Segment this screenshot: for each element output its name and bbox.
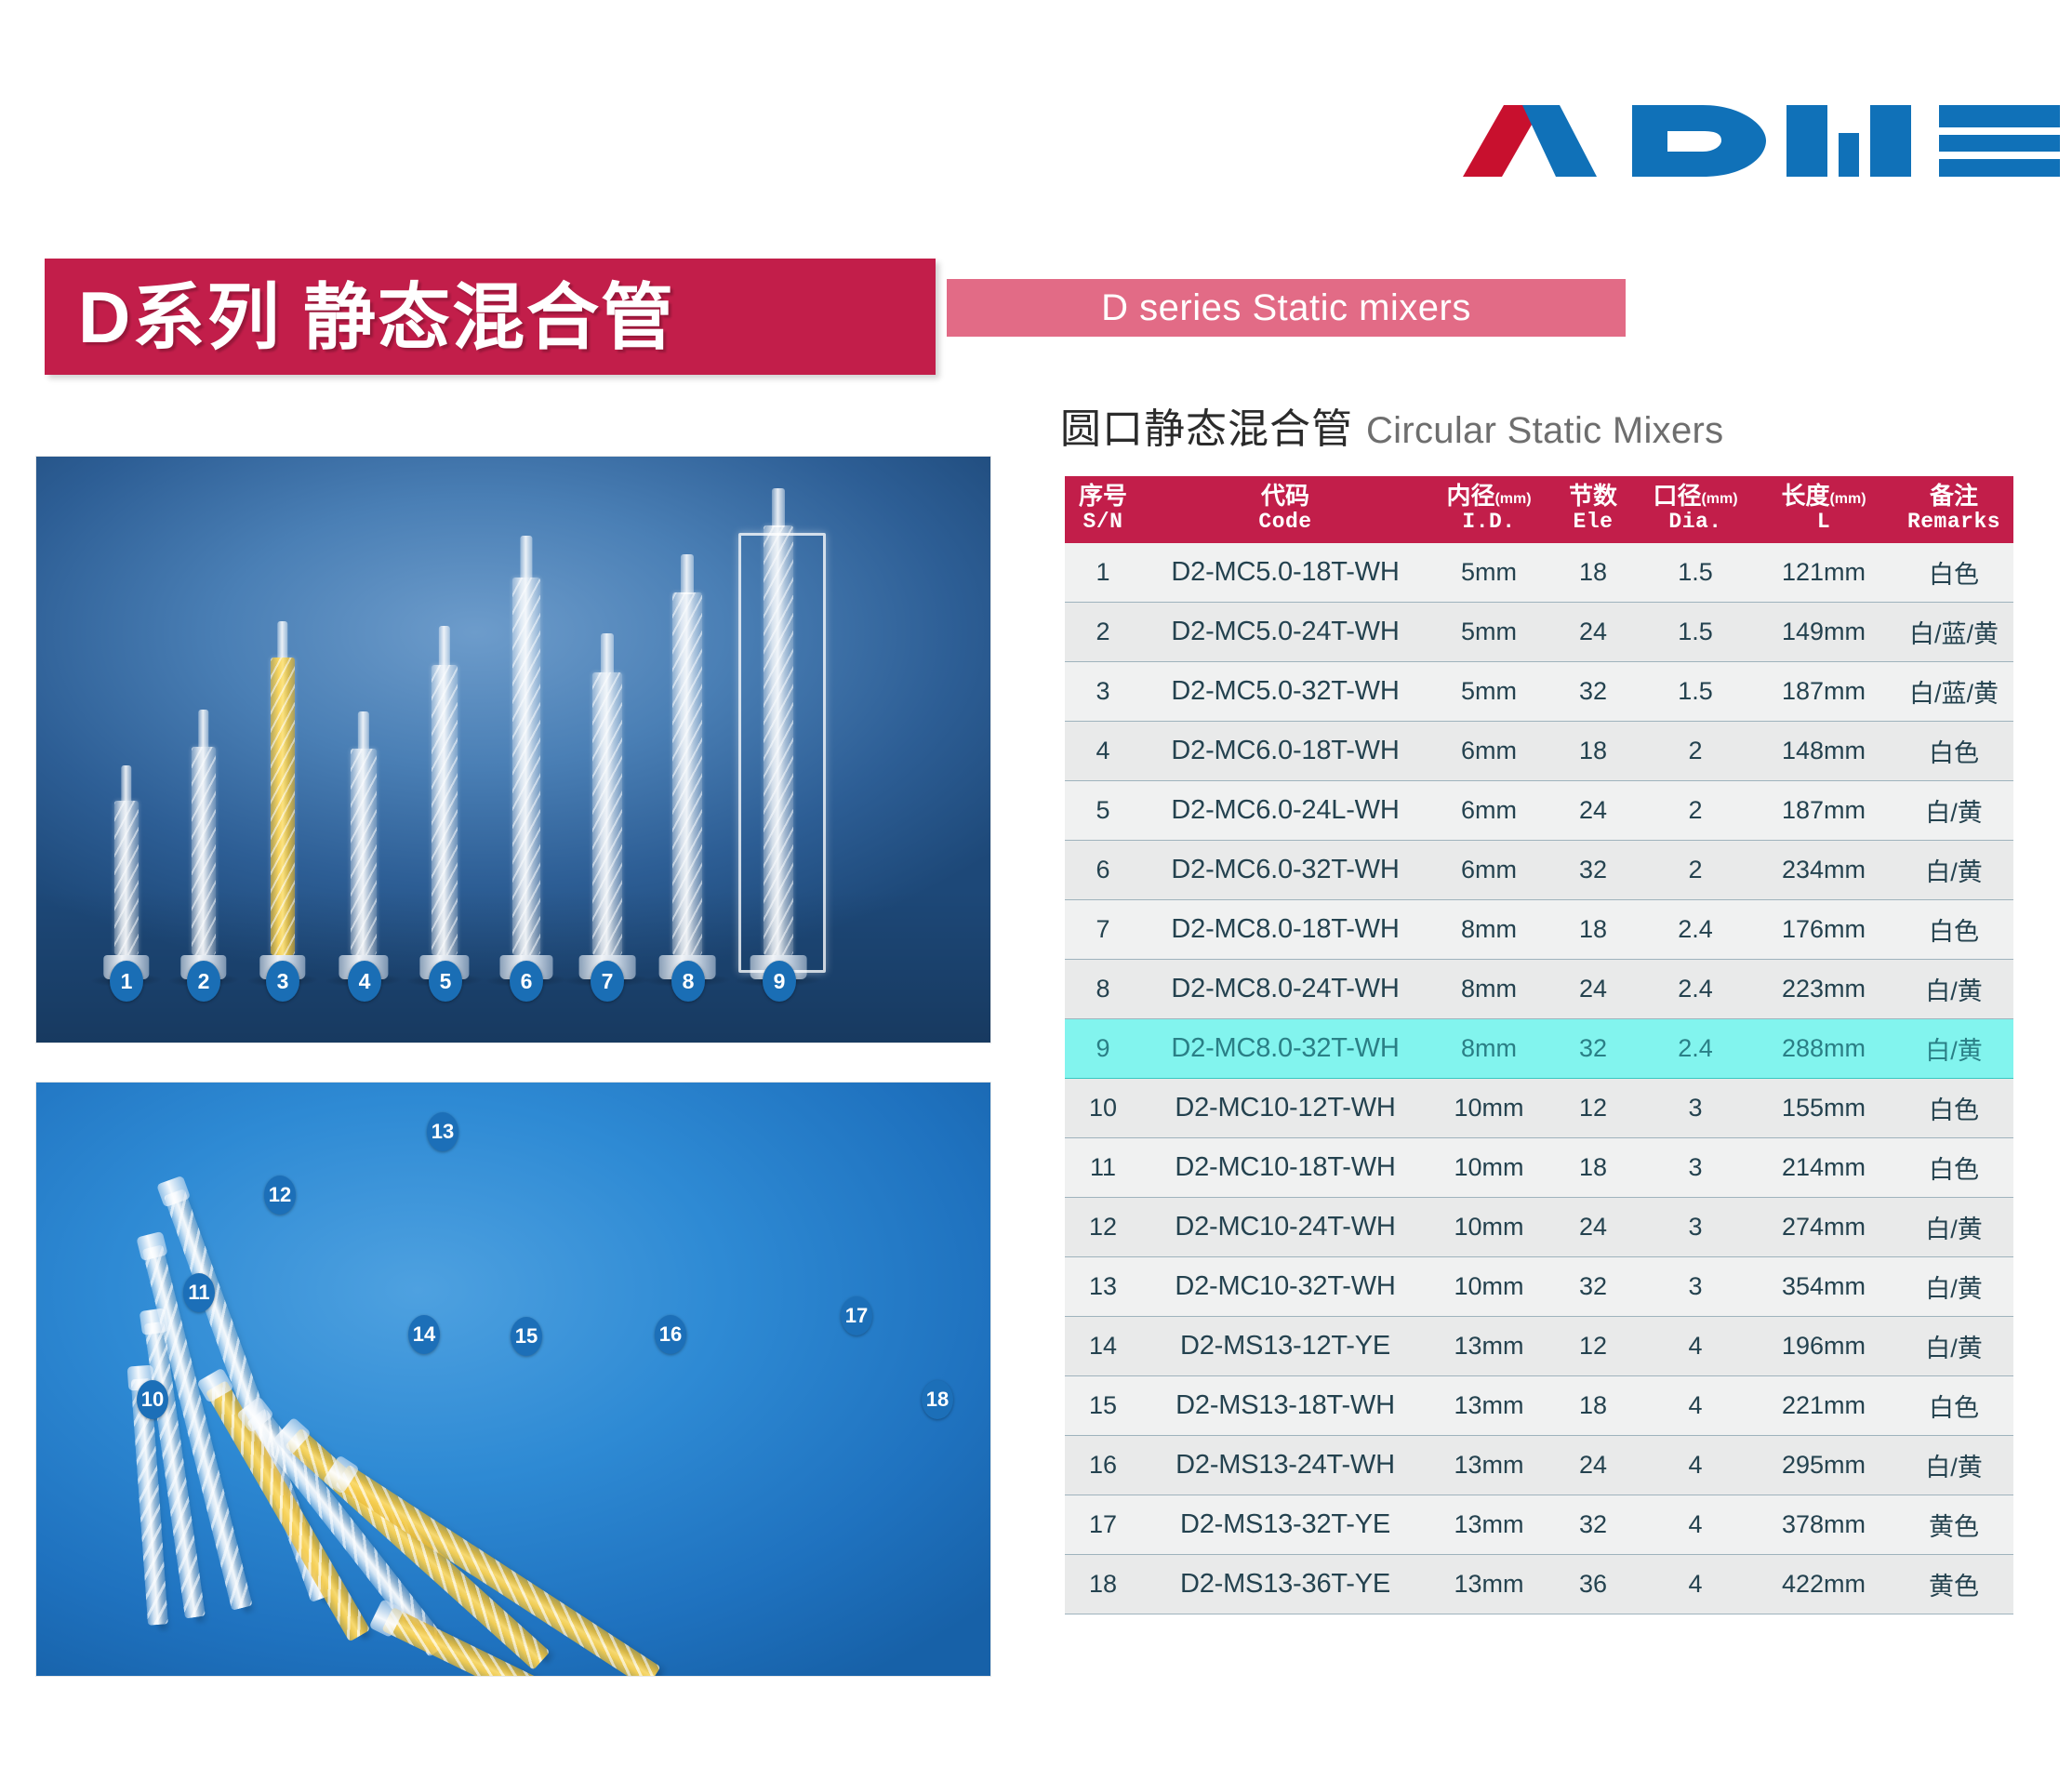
mixer-tip [520, 536, 532, 578]
cell-sn: 16 [1065, 1436, 1141, 1495]
specification-table: 序号 S/N 代码 Code 内径(mm) I.D. 节数 Ele 口径(mm)… [1065, 476, 2013, 1614]
cell-ele: 24 [1548, 603, 1638, 662]
cell-length: 214mm [1753, 1138, 1894, 1198]
photo-badge-14: 14 [408, 1315, 440, 1354]
table-row[interactable]: 7D2-MC8.0-18T-WH8mm182.4176mm白色 [1065, 900, 2013, 960]
column-header-ele: 节数 Ele [1548, 476, 1638, 543]
cell-code: D2-MC6.0-18T-WH [1141, 722, 1429, 781]
mixer-body [672, 592, 702, 955]
cell-ele: 24 [1548, 1198, 1638, 1257]
photo-badge-2: 2 [187, 961, 220, 1002]
cell-code: D2-MC8.0-18T-WH [1141, 900, 1429, 960]
mixer-item-7 [592, 633, 622, 979]
mixer-body [512, 578, 540, 955]
cell-id: 6mm [1429, 841, 1548, 900]
page-title-en: D series Static mixers [1101, 287, 1471, 329]
table-row[interactable]: 6D2-MC6.0-32T-WH6mm322234mm白/黄 [1065, 841, 2013, 900]
column-header-remarks-en: Remarks [1896, 510, 2012, 535]
photo-badge-12: 12 [264, 1176, 296, 1215]
cell-remarks: 白色 [1894, 543, 2013, 603]
mixer-tip [358, 711, 369, 749]
cell-dia: 2.4 [1638, 960, 1753, 1019]
photo-badge-18: 18 [922, 1380, 953, 1419]
column-header-dia-en: Dia. [1640, 510, 1751, 535]
photo-badge-7: 7 [591, 961, 624, 1002]
column-header-sn-en: S/N [1067, 510, 1139, 535]
table-row[interactable]: 8D2-MC8.0-24T-WH8mm242.4223mm白/黄 [1065, 960, 2013, 1019]
cell-code: D2-MC6.0-24L-WH [1141, 781, 1429, 841]
column-header-sn-cn: 序号 [1067, 483, 1139, 510]
cell-sn: 1 [1065, 543, 1141, 603]
table-row[interactable]: 3D2-MC5.0-32T-WH5mm321.5187mm白/蓝/黄 [1065, 662, 2013, 722]
cell-length: 187mm [1753, 781, 1894, 841]
cell-id: 10mm [1429, 1079, 1548, 1138]
cell-id: 8mm [1429, 900, 1548, 960]
cell-code: D2-MS13-36T-YE [1141, 1555, 1429, 1614]
cell-remarks: 白/黄 [1894, 1198, 2013, 1257]
title-banner-english: D series Static mixers [947, 279, 1626, 337]
cell-code: D2-MC10-12T-WH [1141, 1079, 1429, 1138]
cell-length: 422mm [1753, 1555, 1894, 1614]
photo-badge-1: 1 [110, 961, 143, 1002]
cell-remarks: 白/蓝/黄 [1894, 603, 2013, 662]
cell-dia: 4 [1638, 1495, 1753, 1555]
cell-code: D2-MC10-24T-WH [1141, 1198, 1429, 1257]
cell-remarks: 白/蓝/黄 [1894, 662, 2013, 722]
column-header-code-cn: 代码 [1143, 483, 1428, 510]
table-row[interactable]: 10D2-MC10-12T-WH10mm123155mm白色 [1065, 1079, 2013, 1138]
column-header-length-cn: 长度(mm) [1755, 483, 1893, 510]
cell-length: 223mm [1753, 960, 1894, 1019]
photo-badge-6: 6 [510, 961, 543, 1002]
cell-ele: 32 [1548, 662, 1638, 722]
cell-length: 274mm [1753, 1198, 1894, 1257]
cell-length: 354mm [1753, 1257, 1894, 1317]
cell-id: 5mm [1429, 603, 1548, 662]
table-row[interactable]: 18D2-MS13-36T-YE13mm364422mm黄色 [1065, 1555, 2013, 1614]
column-header-id-cn: 内径(mm) [1431, 483, 1547, 510]
table-row[interactable]: 15D2-MS13-18T-WH13mm184221mm白色 [1065, 1376, 2013, 1436]
cell-remarks: 白/黄 [1894, 841, 2013, 900]
photo-badge-10: 10 [137, 1380, 168, 1419]
cell-length: 196mm [1753, 1317, 1894, 1376]
cell-remarks: 白/黄 [1894, 1257, 2013, 1317]
cell-sn: 2 [1065, 603, 1141, 662]
mixer-body [432, 665, 458, 955]
cell-code: D2-MC8.0-24T-WH [1141, 960, 1429, 1019]
cell-dia: 3 [1638, 1138, 1753, 1198]
cell-id: 13mm [1429, 1436, 1548, 1495]
mixer-item-3 [271, 621, 295, 979]
column-header-remarks-cn: 备注 [1896, 483, 2012, 510]
cell-length: 288mm [1753, 1019, 1894, 1079]
column-header-remarks: 备注 Remarks [1894, 476, 2013, 543]
photo-badge-9: 9 [763, 961, 796, 1002]
photo-badge-16: 16 [655, 1315, 686, 1354]
cell-ele: 18 [1548, 543, 1638, 603]
table-row[interactable]: 5D2-MC6.0-24L-WH6mm242187mm白/黄 [1065, 781, 2013, 841]
cell-id: 13mm [1429, 1555, 1548, 1614]
cell-sn: 14 [1065, 1317, 1141, 1376]
mixer-item-8 [672, 554, 702, 979]
cell-sn: 4 [1065, 722, 1141, 781]
cell-ele: 18 [1548, 900, 1638, 960]
cell-ele: 18 [1548, 1376, 1638, 1436]
cell-code: D2-MC6.0-32T-WH [1141, 841, 1429, 900]
cell-sn: 15 [1065, 1376, 1141, 1436]
mixer-body [271, 658, 295, 955]
column-header-code-en: Code [1143, 510, 1428, 535]
cell-id: 5mm [1429, 662, 1548, 722]
mixer-item-1 [114, 765, 139, 979]
cell-code: D2-MC8.0-32T-WH [1141, 1019, 1429, 1079]
cell-id: 13mm [1429, 1317, 1548, 1376]
adhe-logo-mark [1446, 88, 2060, 177]
cell-code: D2-MS13-32T-YE [1141, 1495, 1429, 1555]
cell-dia: 3 [1638, 1257, 1753, 1317]
table-row[interactable]: 2D2-MC5.0-24T-WH5mm241.5149mm白/蓝/黄 [1065, 603, 2013, 662]
column-header-ele-en: Ele [1550, 510, 1636, 535]
cell-ele: 12 [1548, 1317, 1638, 1376]
column-header-length-en: L [1755, 510, 1893, 535]
specification-table-body: 1D2-MC5.0-18T-WH5mm181.5121mm白色2D2-MC5.0… [1065, 543, 2013, 1614]
mixer-tip [681, 554, 694, 594]
mixer-item-5 [432, 626, 458, 979]
photo-badge-5: 5 [429, 961, 462, 1002]
cell-id: 13mm [1429, 1376, 1548, 1436]
mixer-body [351, 749, 377, 955]
photo-badge-4: 4 [348, 961, 381, 1002]
cell-ele: 32 [1548, 1019, 1638, 1079]
mixer-item-2 [192, 710, 216, 979]
column-header-id: 内径(mm) I.D. [1429, 476, 1548, 543]
cell-code: D2-MC5.0-32T-WH [1141, 662, 1429, 722]
cell-remarks: 白色 [1894, 722, 2013, 781]
section-heading: 圆口静态混合管 Circular Static Mixers [1060, 395, 1723, 455]
cell-dia: 2 [1638, 781, 1753, 841]
cell-dia: 4 [1638, 1555, 1753, 1614]
cell-remarks: 白色 [1894, 900, 2013, 960]
cell-ele: 32 [1548, 1495, 1638, 1555]
cell-dia: 3 [1638, 1198, 1753, 1257]
cell-id: 10mm [1429, 1257, 1548, 1317]
mixer-body [192, 747, 216, 955]
cell-ele: 18 [1548, 722, 1638, 781]
cell-dia: 2.4 [1638, 1019, 1753, 1079]
cell-sn: 5 [1065, 781, 1141, 841]
cell-sn: 3 [1065, 662, 1141, 722]
column-header-dia: 口径(mm) Dia. [1638, 476, 1753, 543]
cell-ele: 24 [1548, 781, 1638, 841]
cell-length: 148mm [1753, 722, 1894, 781]
cell-dia: 2.4 [1638, 900, 1753, 960]
title-banner-chinese: D系列 静态混合管 [45, 259, 936, 375]
cell-dia: 1.5 [1638, 603, 1753, 662]
table-row[interactable]: 14D2-MS13-12T-YE13mm124196mm白/黄 [1065, 1317, 2013, 1376]
photo-badge-8: 8 [671, 961, 705, 1002]
mixer-tip [121, 765, 131, 801]
photo-badge-3: 3 [266, 961, 299, 1002]
cell-sn: 8 [1065, 960, 1141, 1019]
cell-dia: 4 [1638, 1317, 1753, 1376]
cell-sn: 6 [1065, 841, 1141, 900]
cell-ele: 32 [1548, 841, 1638, 900]
cell-length: 176mm [1753, 900, 1894, 960]
cell-length: 187mm [1753, 662, 1894, 722]
table-row[interactable]: 12D2-MC10-24T-WH10mm243274mm白/黄 [1065, 1198, 2013, 1257]
photo-badge-13: 13 [427, 1112, 458, 1151]
cell-ele: 24 [1548, 1436, 1638, 1495]
cell-length: 378mm [1753, 1495, 1894, 1555]
cell-sn: 7 [1065, 900, 1141, 960]
cell-code: D2-MC10-32T-WH [1141, 1257, 1429, 1317]
cell-code: D2-MC10-18T-WH [1141, 1138, 1429, 1198]
cell-id: 10mm [1429, 1198, 1548, 1257]
cell-remarks: 白色 [1894, 1138, 2013, 1198]
cell-length: 121mm [1753, 543, 1894, 603]
table-row[interactable]: 17D2-MS13-32T-YE13mm324378mm黄色 [1065, 1495, 2013, 1555]
photo-badge-11: 11 [183, 1273, 215, 1312]
mixer-tip [198, 710, 208, 747]
column-header-length: 长度(mm) L [1753, 476, 1894, 543]
cell-id: 5mm [1429, 543, 1548, 603]
product-photo-bottom: 10 11 12 13 14 15 16 17 18 [35, 1082, 991, 1677]
column-header-sn: 序号 S/N [1065, 476, 1141, 543]
cell-sn: 9 [1065, 1019, 1141, 1079]
cell-remarks: 白色 [1894, 1079, 2013, 1138]
cell-code: D2-MC5.0-24T-WH [1141, 603, 1429, 662]
cell-ele: 32 [1548, 1257, 1638, 1317]
cell-id: 8mm [1429, 1019, 1548, 1079]
cell-sn: 18 [1065, 1555, 1141, 1614]
mixer-body [592, 672, 622, 955]
cell-sn: 13 [1065, 1257, 1141, 1317]
column-header-dia-cn: 口径(mm) [1640, 483, 1751, 510]
cell-remarks: 白色 [1894, 1376, 2013, 1436]
page-title-cn: D系列 静态混合管 [78, 281, 675, 353]
cell-sn: 11 [1065, 1138, 1141, 1198]
cell-remarks: 白/黄 [1894, 1317, 2013, 1376]
cell-dia: 1.5 [1638, 543, 1753, 603]
table-header-row: 序号 S/N 代码 Code 内径(mm) I.D. 节数 Ele 口径(mm)… [1065, 476, 2013, 543]
cell-id: 6mm [1429, 781, 1548, 841]
cell-dia: 3 [1638, 1079, 1753, 1138]
mixer-item-6 [512, 536, 540, 979]
cell-dia: 4 [1638, 1436, 1753, 1495]
mixer-item-4 [351, 711, 377, 979]
photo-badge-17: 17 [841, 1296, 872, 1335]
mixer-tip [601, 633, 614, 672]
column-header-code: 代码 Code [1141, 476, 1429, 543]
highlight-frame-item-9 [738, 533, 826, 973]
cell-ele: 12 [1548, 1079, 1638, 1138]
mixer-tip [772, 488, 785, 527]
table-row[interactable]: 13D2-MC10-32T-WH10mm323354mm白/黄 [1065, 1257, 2013, 1317]
cell-length: 221mm [1753, 1376, 1894, 1436]
cell-id: 13mm [1429, 1495, 1548, 1555]
cell-length: 155mm [1753, 1079, 1894, 1138]
company-logo [1446, 88, 2060, 177]
mixer-tip [277, 621, 287, 658]
cell-id: 10mm [1429, 1138, 1548, 1198]
cell-id: 6mm [1429, 722, 1548, 781]
cell-code: D2-MC5.0-18T-WH [1141, 543, 1429, 603]
table-row[interactable]: 11D2-MC10-18T-WH10mm183214mm白色 [1065, 1138, 2013, 1198]
column-header-ele-cn: 节数 [1550, 483, 1636, 510]
cell-dia: 4 [1638, 1376, 1753, 1436]
cell-ele: 36 [1548, 1555, 1638, 1614]
section-heading-cn: 圆口静态混合管 [1060, 395, 1353, 455]
section-heading-en: Circular Static Mixers [1366, 410, 1723, 452]
cell-dia: 2 [1638, 722, 1753, 781]
cell-length: 295mm [1753, 1436, 1894, 1495]
table-row-highlighted[interactable]: 9D2-MC8.0-32T-WH8mm322.4288mm白/黄 [1065, 1019, 2013, 1079]
table-row[interactable]: 1D2-MC5.0-18T-WH5mm181.5121mm白色 [1065, 543, 2013, 603]
mixer-body [114, 801, 139, 955]
cell-sn: 12 [1065, 1198, 1141, 1257]
cell-dia: 2 [1638, 841, 1753, 900]
table-row[interactable]: 4D2-MC6.0-18T-WH6mm182148mm白色 [1065, 722, 2013, 781]
cell-dia: 1.5 [1638, 662, 1753, 722]
cell-remarks: 白/黄 [1894, 1436, 2013, 1495]
cell-ele: 24 [1548, 960, 1638, 1019]
table-row[interactable]: 16D2-MS13-24T-WH13mm244295mm白/黄 [1065, 1436, 2013, 1495]
column-header-id-en: I.D. [1431, 510, 1547, 535]
cell-ele: 18 [1548, 1138, 1638, 1198]
cell-remarks: 黄色 [1894, 1495, 2013, 1555]
cell-length: 149mm [1753, 603, 1894, 662]
cell-remarks: 白/黄 [1894, 1019, 2013, 1079]
product-photo-top: 1 2 3 4 5 6 7 8 9 [35, 456, 991, 1043]
photo-badge-15: 15 [511, 1317, 542, 1356]
cell-id: 8mm [1429, 960, 1548, 1019]
mixer-tip [439, 626, 450, 665]
cell-code: D2-MS13-24T-WH [1141, 1436, 1429, 1495]
cell-remarks: 白/黄 [1894, 781, 2013, 841]
cell-sn: 17 [1065, 1495, 1141, 1555]
cell-code: D2-MS13-18T-WH [1141, 1376, 1429, 1436]
cell-sn: 10 [1065, 1079, 1141, 1138]
cell-remarks: 白/黄 [1894, 960, 2013, 1019]
cell-code: D2-MS13-12T-YE [1141, 1317, 1429, 1376]
cell-length: 234mm [1753, 841, 1894, 900]
cell-remarks: 黄色 [1894, 1555, 2013, 1614]
